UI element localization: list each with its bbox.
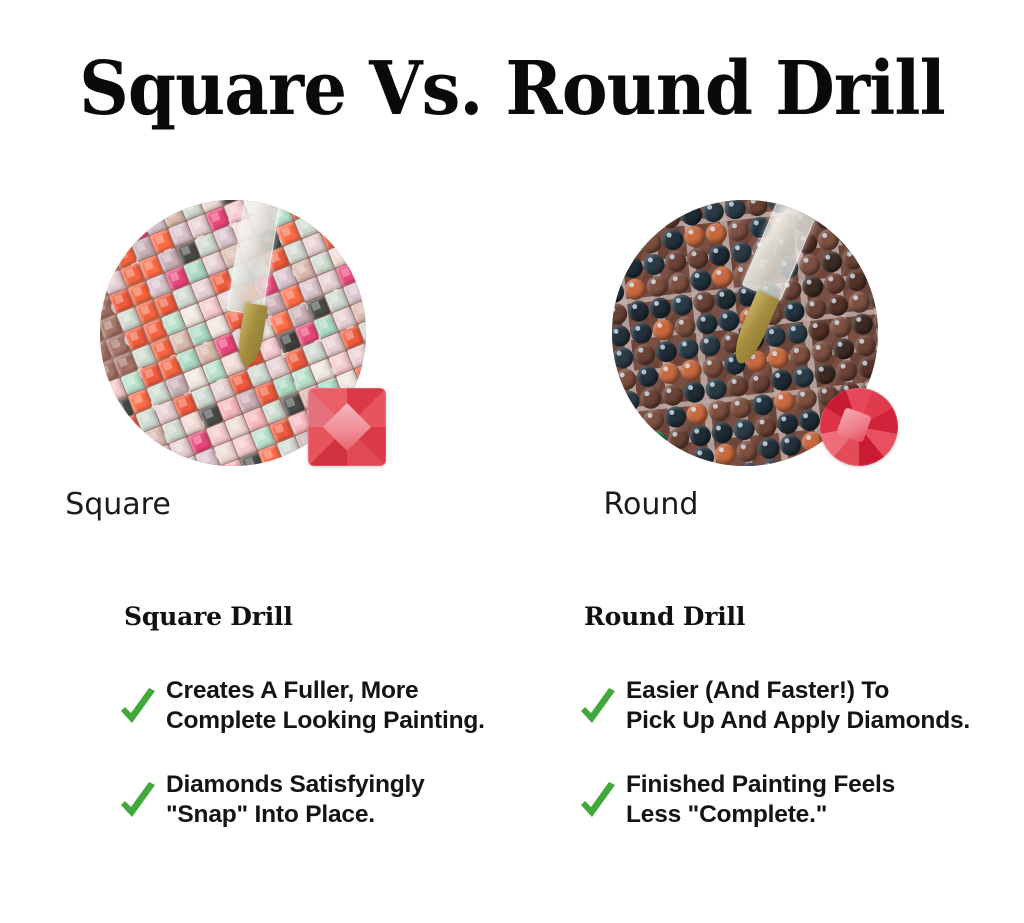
list-item: Easier (And Faster!) To Pick Up And Appl… [578, 676, 1024, 736]
comparison-columns: Square Drill Creates A Fuller, More Comp… [0, 600, 1024, 890]
check-icon [578, 780, 618, 824]
square-drill-heading: Square Drill [124, 600, 588, 634]
check-icon [118, 780, 158, 824]
list-item: Creates A Fuller, More Complete Looking … [118, 676, 588, 736]
round-photo-cell [512, 200, 1024, 470]
list-item-label: Easier (And Faster!) To Pick Up And Appl… [626, 676, 970, 736]
list-item-label: Finished Painting Feels Less "Complete." [626, 770, 895, 830]
loose-square-gem [308, 388, 386, 466]
photo-captions: Square Round [0, 485, 1024, 529]
square-photo-cell [0, 200, 512, 470]
square-drill-photo [100, 200, 366, 466]
photo-comparison-row [0, 200, 1024, 470]
list-item: Diamonds Satisfyingly "Snap" Into Place. [118, 770, 588, 830]
caption-round: Round [512, 485, 1024, 525]
check-icon [578, 686, 618, 730]
round-drill-photo [612, 200, 878, 466]
caption-square: Square [0, 485, 512, 525]
square-drill-column: Square Drill Creates A Fuller, More Comp… [118, 600, 588, 864]
list-item-label: Diamonds Satisfyingly "Snap" Into Place. [166, 770, 425, 830]
check-icon [118, 686, 158, 730]
list-item-label: Creates A Fuller, More Complete Looking … [166, 676, 485, 736]
list-item: Finished Painting Feels Less "Complete." [578, 770, 1024, 830]
round-drill-heading: Round Drill [584, 600, 1024, 634]
page-title: Square Vs. Round Drill [36, 46, 988, 132]
round-drill-column: Round Drill Easier (And Faster!) To Pick… [578, 600, 1024, 864]
loose-round-gem [820, 388, 898, 466]
